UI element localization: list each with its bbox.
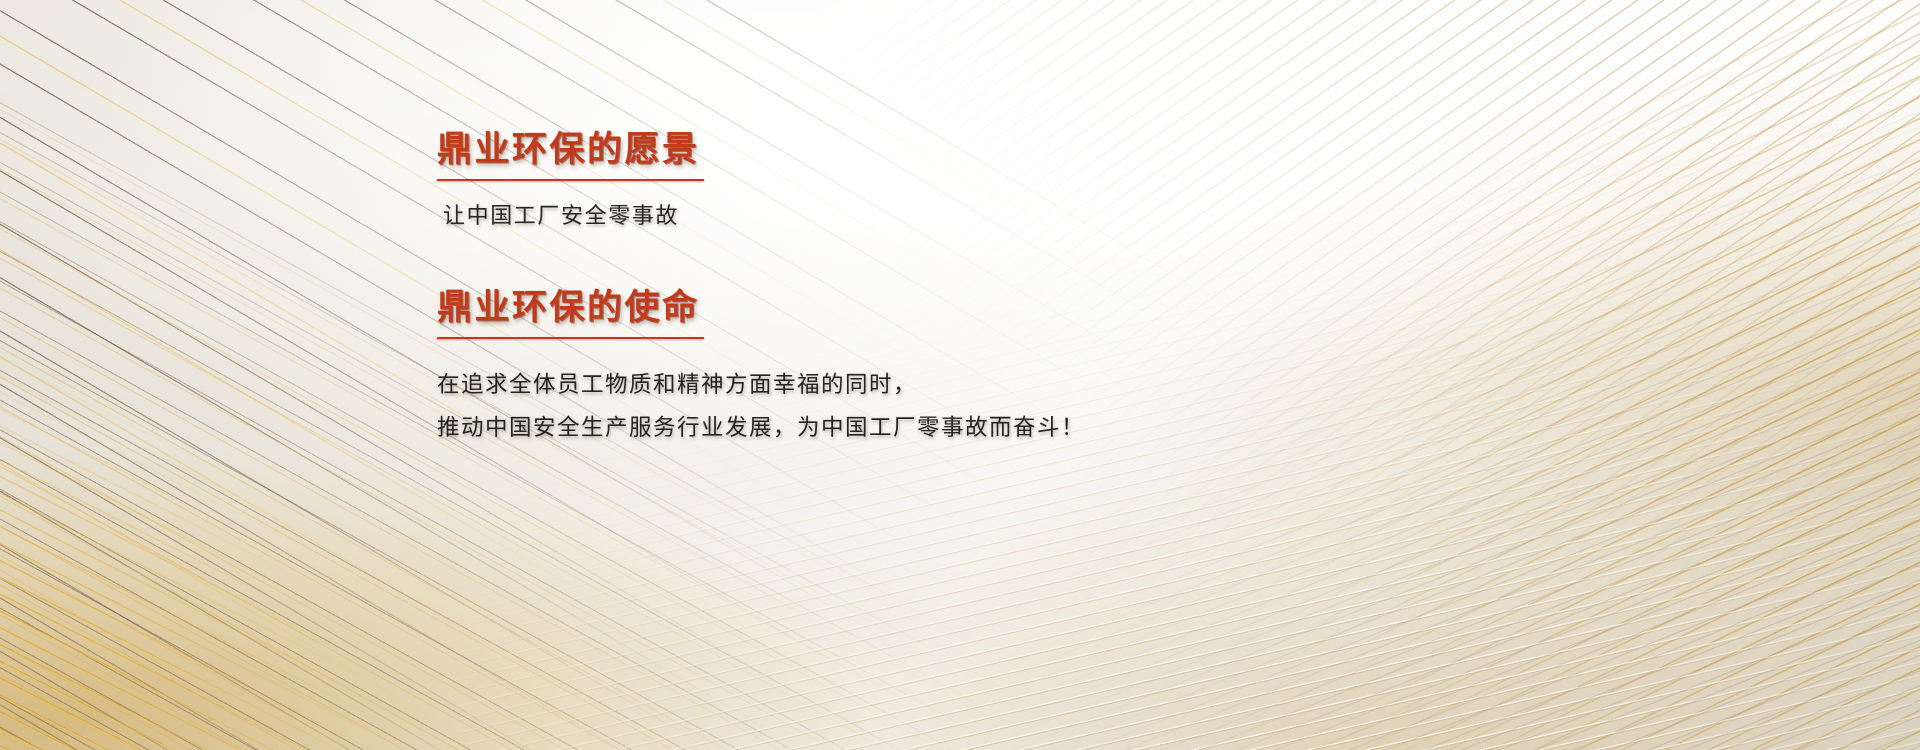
mission-body-line-1: 在追求全体员工物质和精神方面幸福的同时， (437, 363, 1437, 406)
vision-block: 鼎业环保的愿景 让中国工厂安全零事故 (437, 128, 1437, 232)
vision-heading: 鼎业环保的愿景 (437, 128, 700, 181)
mission-body: 在追求全体员工物质和精神方面幸福的同时， 推动中国安全生产服务行业发展，为中国工… (437, 363, 1437, 449)
vision-subtitle: 让中国工厂安全零事故 (443, 199, 1437, 232)
mission-block: 鼎业环保的使命 在追求全体员工物质和精神方面幸福的同时， 推动中国安全生产服务行… (437, 286, 1437, 449)
vision-mission-banner: 鼎业环保的愿景 让中国工厂安全零事故 鼎业环保的使命 在追求全体员工物质和精神方… (0, 0, 1920, 750)
mission-body-line-2: 推动中国安全生产服务行业发展，为中国工厂零事故而奋斗！ (437, 406, 1437, 449)
mission-heading: 鼎业环保的使命 (437, 286, 700, 339)
banner-content: 鼎业环保的愿景 让中国工厂安全零事故 鼎业环保的使命 在追求全体员工物质和精神方… (437, 128, 1437, 449)
